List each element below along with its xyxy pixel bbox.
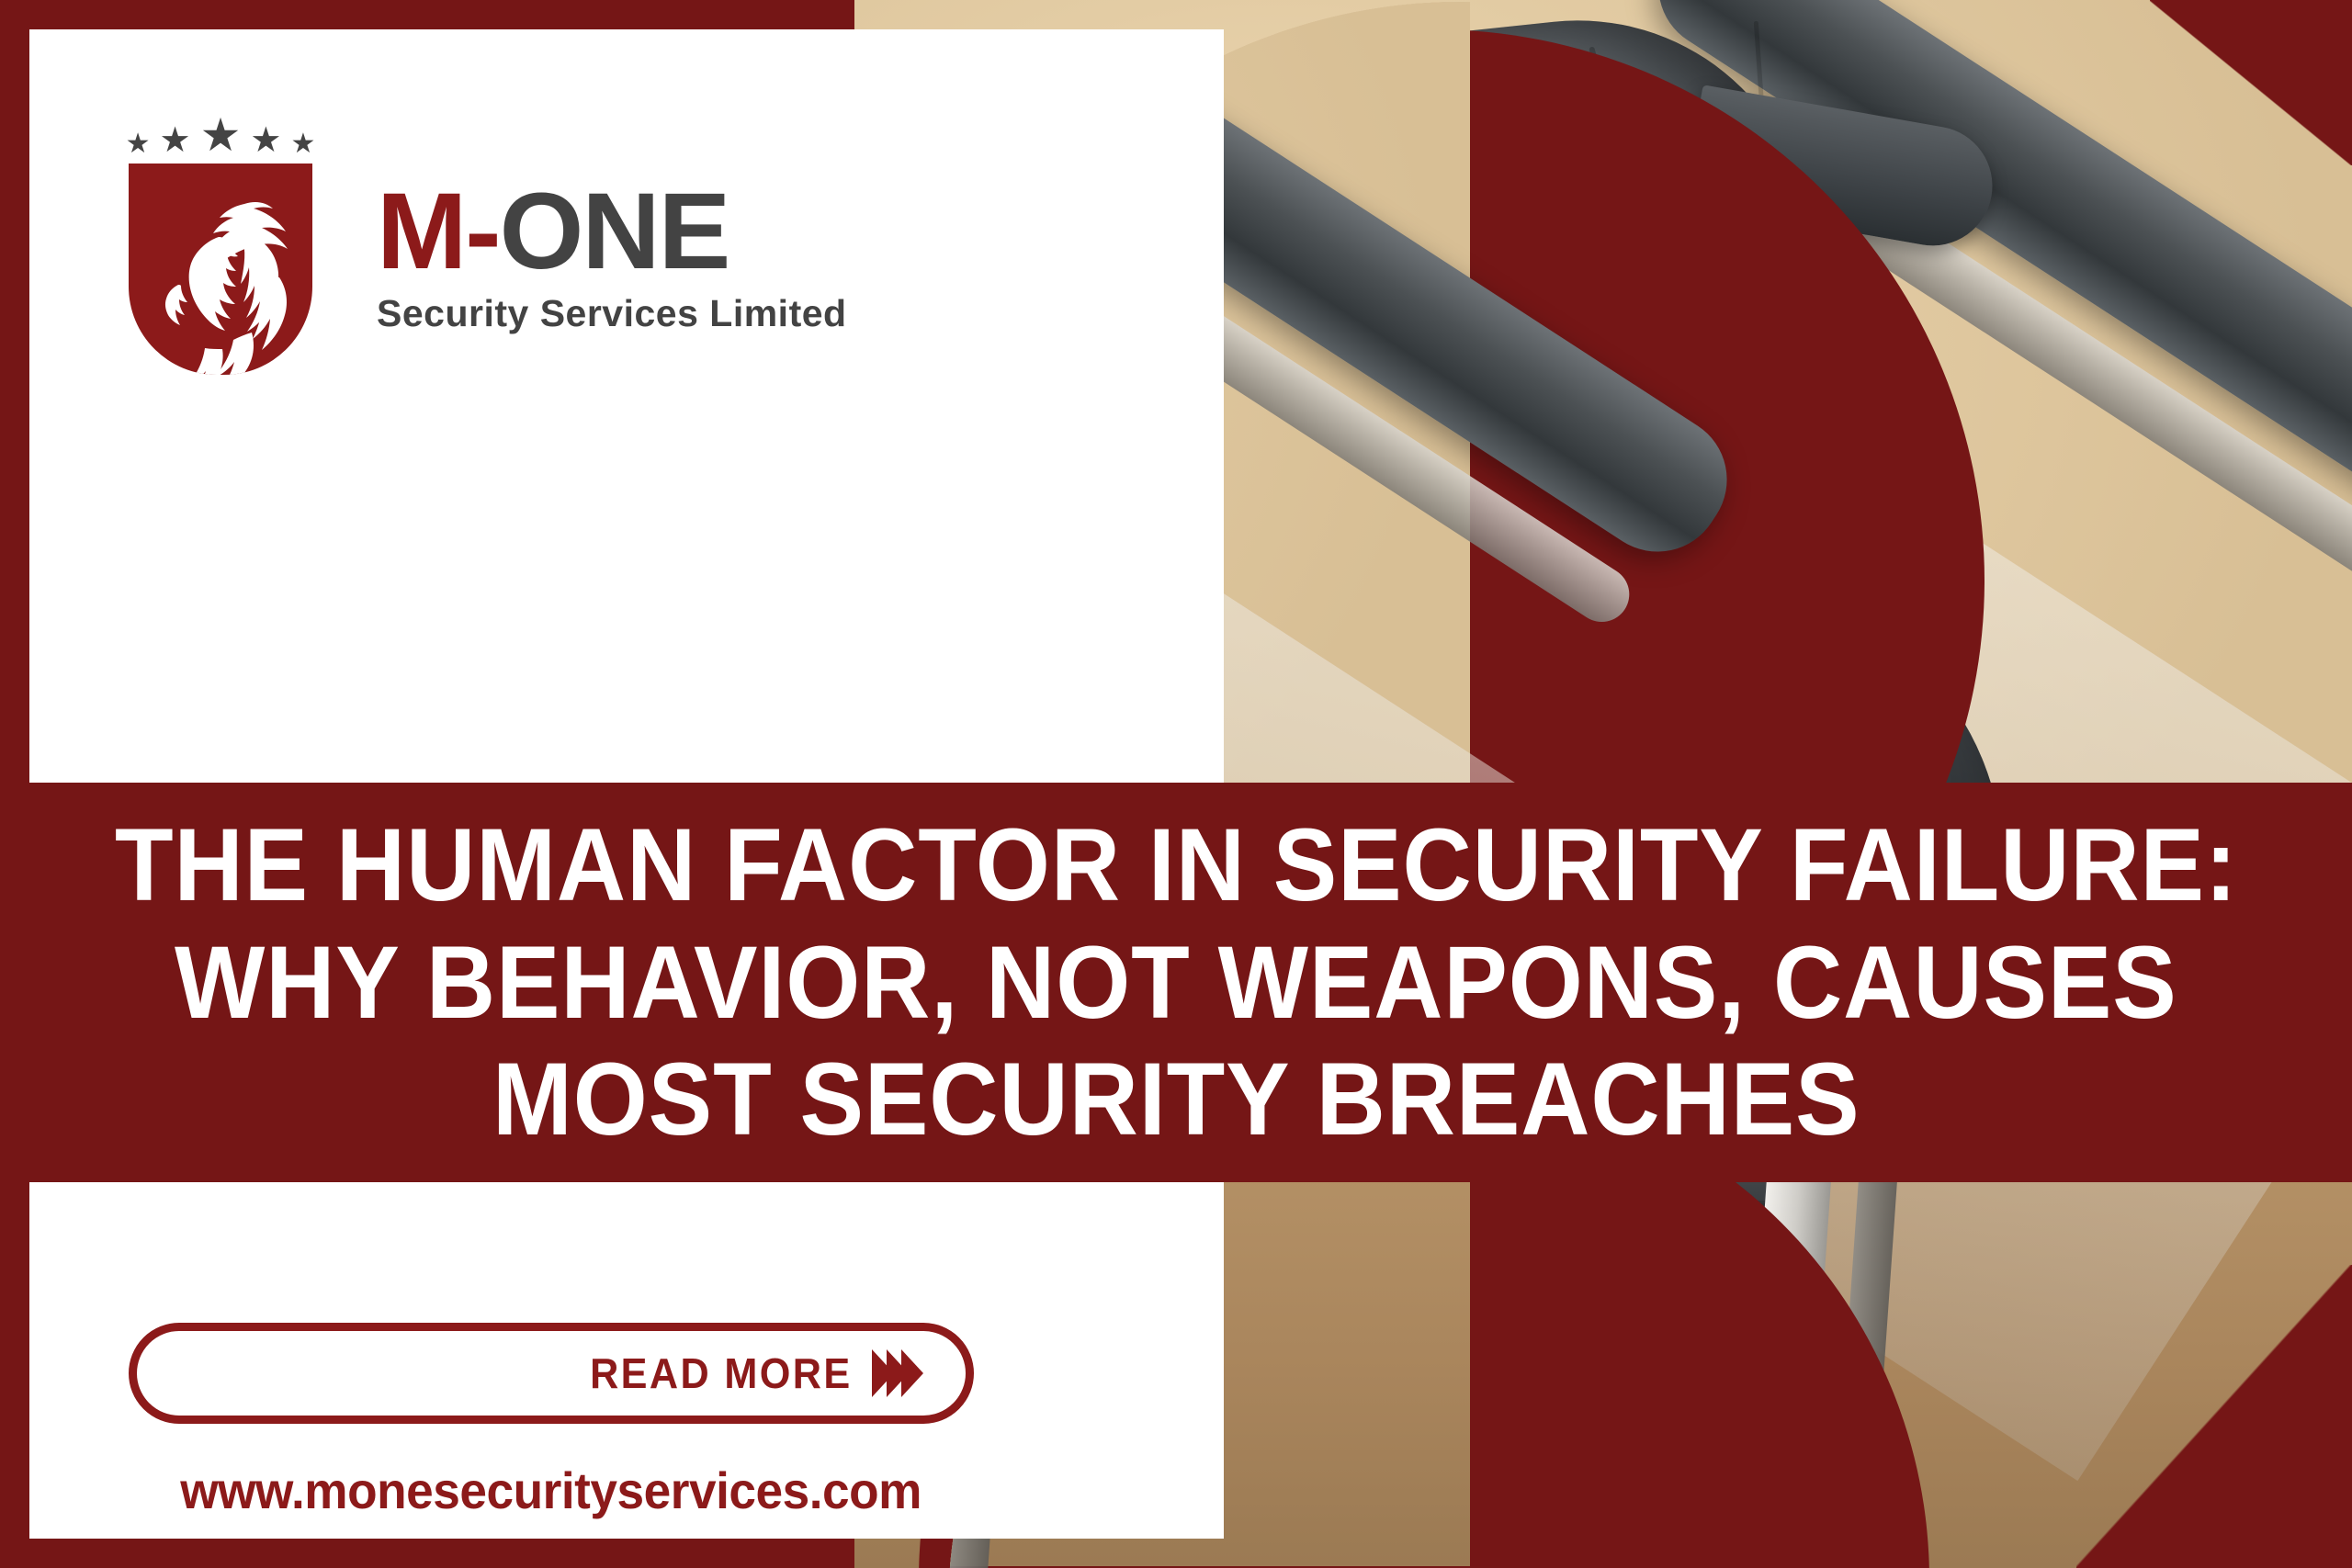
star-icon: ★ xyxy=(126,130,151,158)
headline-line-2: WHY BEHAVIOR, NOT WEAPONS, CAUSES xyxy=(175,924,2177,1042)
lion-shield-crest: ★ ★ ★ ★ ★ xyxy=(129,119,312,375)
chevron-right-icon xyxy=(879,1349,923,1397)
brand-logo[interactable]: ★ ★ ★ ★ ★ xyxy=(129,119,847,375)
five-stars: ★ ★ ★ ★ ★ xyxy=(129,119,312,158)
brand-tagline: Security Services Limited xyxy=(377,292,847,335)
wordmark-part-two: ONE xyxy=(500,171,729,292)
read-more-label: READ MORE xyxy=(590,1348,852,1398)
lion-head-icon xyxy=(141,195,303,375)
headline-band: THE HUMAN FACTOR IN SECURITY FAILURE: WH… xyxy=(0,783,2352,1182)
star-icon: ★ xyxy=(160,123,191,158)
read-more-button[interactable]: READ MORE xyxy=(129,1323,974,1424)
brand-wordmark: M-ONE Security Services Limited xyxy=(377,159,847,334)
shield-shape xyxy=(129,164,312,375)
social-media-poster: SECURITY xyxy=(0,0,2352,1568)
bottom-right-corner-accent xyxy=(2076,1265,2352,1568)
top-right-corner-accent xyxy=(2150,0,2352,165)
star-icon: ★ xyxy=(200,112,242,158)
headline-line-1: THE HUMAN FACTOR IN SECURITY FAILURE: xyxy=(115,807,2238,924)
star-icon: ★ xyxy=(291,130,316,158)
headline-line-3: MOST SECURITY BREACHES xyxy=(492,1041,1860,1158)
website-url[interactable]: www.monesecurityservices.com xyxy=(180,1461,922,1520)
wordmark-part-one: M- xyxy=(377,171,500,292)
star-icon: ★ xyxy=(250,123,281,158)
